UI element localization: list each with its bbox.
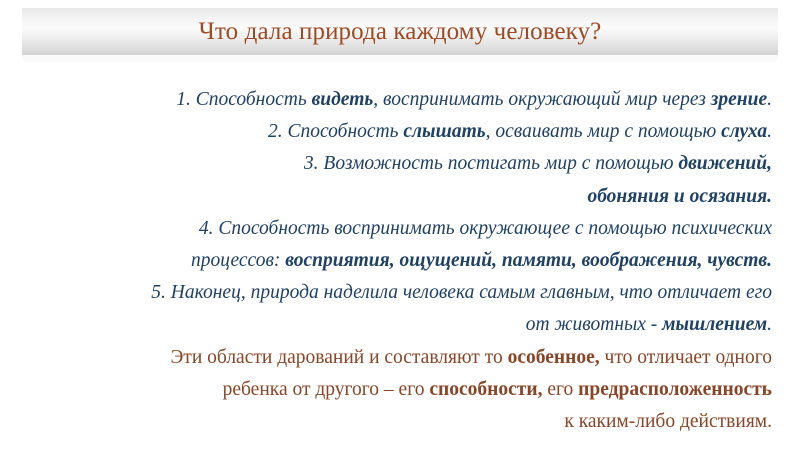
text-line-line-6c: к каким-либо действиям. — [36, 406, 772, 438]
title-banner-underline — [22, 55, 778, 62]
text-run: обоняния и осязания. — [587, 186, 772, 207]
slide-body: 1. Способность видеть, воспринимать окру… — [36, 84, 772, 438]
text-run: процессов: — [191, 250, 285, 271]
text-run: движений, — [678, 153, 772, 174]
text-run: 4. Способность воспринимать окружающее с… — [199, 218, 772, 239]
text-run: что отличает одного — [600, 347, 772, 368]
text-run: , осваивать мир с помощью — [486, 121, 721, 142]
text-line-line-6a: Эти области дарований и составляют то ос… — [36, 342, 772, 374]
text-run: особенное, — [508, 347, 600, 368]
text-run: . — [767, 89, 772, 110]
text-run: . — [767, 121, 772, 142]
text-run: 5. Наконец, природа наделила человека са… — [151, 282, 772, 303]
text-line-line-5b: от животных - мышлением. — [36, 309, 772, 341]
text-line-line-5a: 5. Наконец, природа наделила человека са… — [36, 277, 772, 309]
text-run: 1. Способность — [176, 89, 311, 110]
text-run: восприятия, ощущений, памяти, воображени… — [285, 250, 772, 271]
text-line-line-3a: 3. Возможность постигать мир с помощью д… — [36, 148, 772, 180]
text-run: 2. Способность — [268, 121, 403, 142]
text-run: , воспринимать окружающий мир через — [373, 89, 710, 110]
text-run: видеть — [312, 89, 374, 110]
text-run: слуха — [721, 121, 767, 142]
text-run: слышать — [403, 121, 485, 142]
text-run: зрение — [711, 89, 767, 110]
page-title: Что дала природа каждому человеку? — [199, 19, 602, 44]
text-line-line-2: 2. Способность слышать, осваивать мир с … — [36, 116, 772, 148]
text-run: от животных - — [526, 314, 662, 335]
text-run: . — [767, 314, 772, 335]
text-run: его — [542, 379, 578, 400]
text-run: предрасположенность — [578, 379, 772, 400]
text-run: ребенка от другого – его — [223, 379, 430, 400]
text-line-line-6b: ребенка от другого – его способности, ег… — [36, 374, 772, 406]
text-line-line-1: 1. Способность видеть, воспринимать окру… — [36, 84, 772, 116]
text-run: мышлением — [662, 314, 767, 335]
text-run: к каким-либо действиям. — [564, 411, 772, 432]
text-run: способности, — [429, 379, 542, 400]
text-run: 3. Возможность постигать мир с помощью — [304, 153, 678, 174]
text-run: Эти области дарований и составляют то — [170, 347, 507, 368]
text-line-line-4b: процессов: восприятия, ощущений, памяти,… — [36, 245, 772, 277]
text-line-line-4a: 4. Способность воспринимать окружающее с… — [36, 213, 772, 245]
text-line-line-3b: обоняния и осязания. — [36, 181, 772, 213]
title-banner: Что дала природа каждому человеку? — [22, 8, 778, 55]
